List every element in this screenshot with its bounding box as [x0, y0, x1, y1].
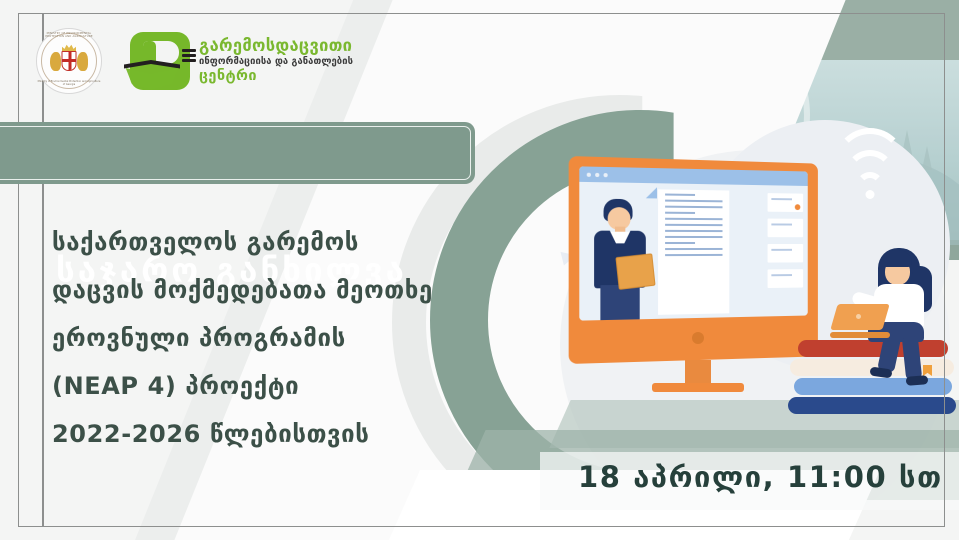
- woman-hair-front: [880, 250, 912, 267]
- subtitle-line: (NEAP 4) პროექტი: [52, 362, 433, 410]
- orange-folder: [615, 253, 655, 290]
- monitor-foot: [652, 383, 744, 392]
- list-item: [768, 269, 804, 288]
- man-trousers: [600, 285, 639, 320]
- orange-laptop: [830, 304, 890, 334]
- eiec-name-line2: ინფორმაციისა და განათლების: [199, 57, 353, 68]
- subtitle-block: საქართველოს გარემოს დაცვის მოქმედებათა მ…: [52, 218, 433, 458]
- event-date-time: 18 აპრილი, 11:00 სთ: [578, 460, 943, 494]
- screen-content: [579, 182, 807, 321]
- header-logos: MINISTRY OF ENVIRONMENTAL PROTECTION AND…: [36, 28, 353, 94]
- woman-with-laptop: [836, 244, 954, 364]
- document-fold-icon: [646, 187, 657, 198]
- seal-subtitle: Ministry of Environmental Protection and…: [37, 80, 101, 86]
- woman-leg: [902, 335, 923, 380]
- list-item: [768, 244, 804, 263]
- book: [794, 378, 952, 395]
- woman-shoe: [906, 375, 929, 386]
- desktop-monitor: [572, 160, 824, 360]
- eiec-name-line1: გარემოსდაცვითი: [199, 37, 353, 55]
- laptop-base: [830, 332, 890, 338]
- ministry-seal: MINISTRY OF ENVIRONMENTAL PROTECTION AND…: [36, 28, 102, 94]
- public-discussion-banner: [0, 122, 475, 184]
- banner-inner-stroke: [0, 126, 471, 180]
- eiec-logo: გარემოსდაცვითი ინფორმაციისა და განათლები…: [130, 32, 353, 90]
- list-item: [768, 219, 804, 238]
- seal-arc-text: MINISTRY OF ENVIRONMENTAL PROTECTION AND…: [37, 32, 101, 38]
- window-dot: [604, 173, 608, 177]
- eiec-logo-mark-icon: [130, 32, 190, 90]
- eiec-logo-text: გარემოსდაცვითი ინფორმაციისა და განათლები…: [199, 37, 353, 84]
- subtitle-line: 2022-2026 წლებისთვის: [52, 410, 433, 458]
- lion-icon: [50, 52, 61, 71]
- lion-icon: [77, 52, 88, 71]
- laptop-logo: [856, 314, 861, 319]
- monitor-screen: [579, 166, 807, 320]
- video-call-man: [592, 199, 650, 321]
- document-panel: [658, 189, 729, 314]
- lines-icon: [182, 49, 196, 65]
- online-public-discussion-illustration: [560, 140, 959, 430]
- subtitle-line: დაცვის მოქმედებათა მეოთხე: [52, 266, 433, 314]
- crown-icon: [62, 44, 76, 51]
- shield-icon: [62, 51, 77, 71]
- wifi-icon: [832, 152, 908, 200]
- window-dot: [587, 172, 591, 176]
- eiec-name-line3: ცენტრი: [199, 68, 353, 84]
- window-dot: [595, 172, 599, 176]
- monitor-knob: [692, 332, 704, 344]
- georgia-coat-of-arms-icon: [49, 44, 89, 78]
- subtitle-line: ეროვნული პროგრამის: [52, 314, 433, 362]
- public-discussion-announcement-poster: MINISTRY OF ENVIRONMENTAL PROTECTION AND…: [0, 0, 959, 540]
- subtitle-line: საქართველოს გარემოს: [52, 218, 433, 266]
- record-indicator-icon: [795, 204, 801, 210]
